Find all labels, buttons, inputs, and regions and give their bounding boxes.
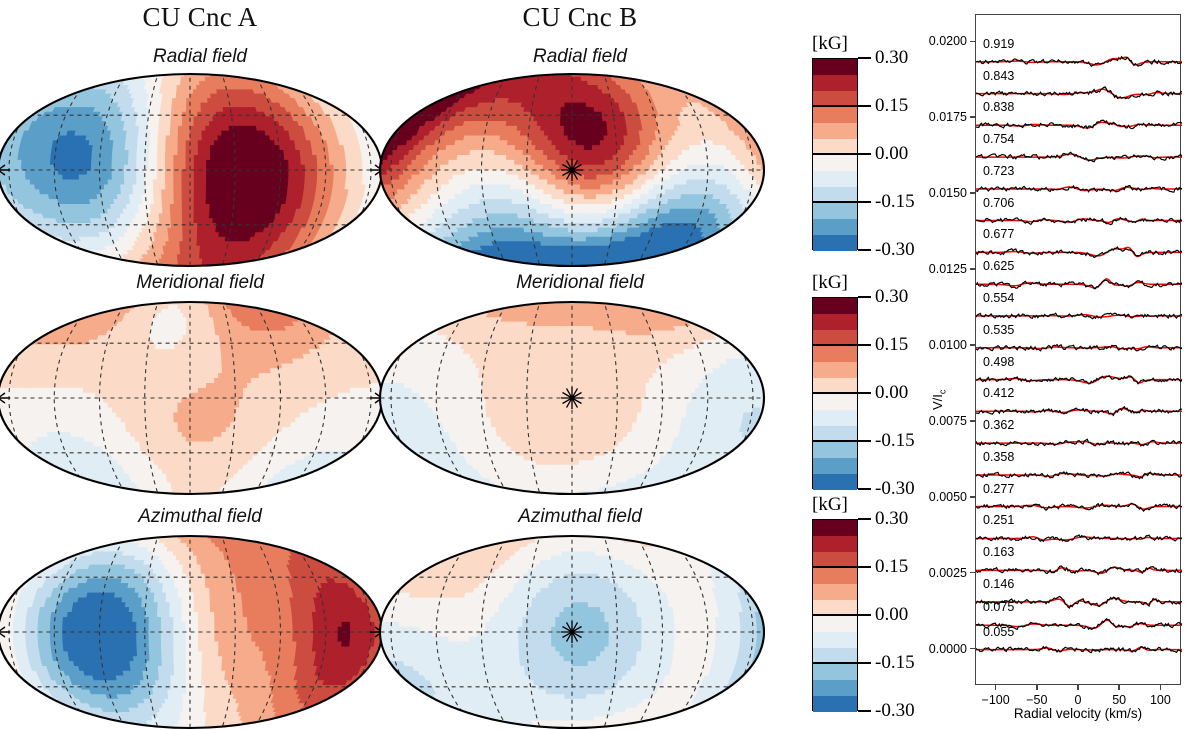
map-title-b-meridional: Meridional field [410, 272, 750, 294]
colorbar-band [813, 235, 857, 251]
colorbar-band [813, 536, 857, 552]
profile-phase-label: 0.754 [983, 132, 1014, 146]
y-tick-mark [970, 116, 975, 118]
colorbar-band [813, 171, 857, 187]
colorbar-tick [858, 105, 871, 107]
x-tick-mark [1077, 685, 1079, 690]
colorbar-tick [858, 392, 871, 394]
colorbar-band [813, 362, 857, 378]
colorbar-tick [858, 57, 871, 59]
profile-phase-label: 0.251 [983, 513, 1014, 527]
map-a-meridional-field [6, 300, 374, 496]
colorbar-level-rule [812, 344, 858, 346]
colorbar-tick-label: -0.15 [875, 652, 915, 674]
profile-phase-label: 0.919 [983, 37, 1014, 51]
colorbar-tick-label: -0.30 [875, 478, 915, 500]
colorbar-level-rule [812, 566, 858, 568]
colorbar-band [813, 442, 857, 458]
colorbar-tick [858, 566, 871, 568]
x-tick-mark [1118, 685, 1120, 690]
profile-phase-label: 0.358 [983, 450, 1014, 464]
y-tick-mark [970, 268, 975, 270]
colorbar-tick [858, 614, 871, 616]
colorbar-band [813, 75, 857, 91]
colorbar-tick [858, 710, 871, 712]
x-tick-label: −50 [1026, 693, 1047, 707]
colorbar-band [813, 474, 857, 490]
profile-phase-label: 0.554 [983, 291, 1014, 305]
profile-phase-label: 0.723 [983, 164, 1014, 178]
mollweide-projection [388, 300, 756, 496]
colorbar-band [813, 520, 857, 536]
x-tick-label: 100 [1150, 693, 1171, 707]
profile-phase-label: 0.362 [983, 418, 1014, 432]
map-b-meridional-field [388, 300, 756, 496]
colorbar-level-rule [812, 153, 858, 155]
colorbar-tick-label: 0.30 [875, 47, 908, 69]
colorbar-band [813, 59, 857, 75]
colorbar-tick [858, 296, 871, 298]
y-tick-label: 0.0200 [911, 34, 967, 48]
mollweide-projection [6, 300, 374, 496]
profile-phase-label: 0.163 [983, 545, 1014, 559]
colorbar-tick-label: -0.30 [875, 239, 915, 261]
x-tick-mark [995, 685, 997, 690]
observed-profile-line [976, 152, 1182, 161]
colorbar-level-rule [812, 392, 858, 394]
mollweide-projection [388, 534, 756, 730]
colorbar-band [813, 664, 857, 680]
spectra-x-axis-title: Radial velocity (km/s) [1014, 706, 1142, 721]
y-tick-label: 0.0125 [911, 262, 967, 276]
colorbar-tick-label: -0.30 [875, 700, 915, 722]
colorbar-tick [858, 201, 871, 203]
column-title-star-a: CU Cnc A [30, 2, 370, 33]
colorbar-level-rule [812, 105, 858, 107]
observed-profile-line [976, 647, 1182, 653]
colorbar-band [813, 314, 857, 330]
colorbar-level-rule [812, 201, 858, 203]
y-tick-mark [970, 344, 975, 346]
x-tick-label: 0 [1075, 693, 1082, 707]
colorbar-level-rule [812, 614, 858, 616]
colorbar-band [813, 203, 857, 219]
colorbar-unit-label: [kG] [812, 33, 848, 55]
profile-phase-label: 0.055 [983, 625, 1014, 639]
mollweide-projection [6, 72, 374, 268]
colorbar-tick [858, 488, 871, 490]
observed-profile-line [976, 313, 1182, 319]
colorbar-band [813, 616, 857, 632]
profile-phase-label: 0.706 [983, 196, 1014, 210]
colorbar-band [813, 219, 857, 235]
x-tick-label: 50 [1112, 693, 1126, 707]
y-tick-mark [970, 648, 975, 650]
colorbar-tick [858, 153, 871, 155]
x-tick-label: −100 [982, 693, 1010, 707]
colorbar-band [813, 155, 857, 171]
colorbar-band [813, 568, 857, 584]
colorbar-tick-label: 0.15 [875, 556, 908, 578]
colorbar-unit-label: [kG] [812, 494, 848, 516]
mollweide-projection [6, 534, 374, 730]
map-title-a-azimuthal: Azimuthal field [30, 506, 370, 528]
y-tick-label: 0.0100 [911, 338, 967, 352]
y-tick-mark [970, 41, 975, 43]
profile-phase-label: 0.146 [983, 577, 1014, 591]
profile-phase-label: 0.625 [983, 259, 1014, 273]
map-a-azimuthal-field [6, 534, 374, 730]
colorbar-band [813, 107, 857, 123]
colorbar-tick [858, 518, 871, 520]
model-profile-line [976, 89, 1182, 98]
colorbar-tick-label: 0.15 [875, 95, 908, 117]
colorbar-tick [858, 440, 871, 442]
colorbar-band [813, 394, 857, 410]
colorbar-band [813, 696, 857, 712]
colorbar-tick [858, 344, 871, 346]
observed-profile-line [976, 120, 1182, 128]
spectra-y-axis-title: V/Ic [930, 390, 948, 410]
colorbar-band [813, 632, 857, 648]
colorbar-tick [858, 249, 871, 251]
profile-phase-label: 0.838 [983, 100, 1014, 114]
x-tick-mark [1160, 685, 1162, 690]
y-tick-mark [970, 192, 975, 194]
observed-profile-line [976, 566, 1182, 575]
y-tick-label: 0.0150 [911, 186, 967, 200]
profile-phase-label: 0.075 [983, 600, 1014, 614]
map-b-radial-field [388, 72, 756, 268]
profile-phase-label: 0.412 [983, 386, 1014, 400]
y-tick-label: 0.0000 [911, 642, 967, 656]
colorbar-level-rule [812, 440, 858, 442]
colorbar-tick-label: 0.00 [875, 382, 908, 404]
colorbar-tick-label: 0.00 [875, 604, 908, 626]
colorbar-tick-label: 0.00 [875, 143, 908, 165]
colorbar-unit-label: [kG] [812, 272, 848, 294]
colorbar-tick-label: 0.15 [875, 334, 908, 356]
colorbar-band [813, 584, 857, 600]
colorbar-band [813, 123, 857, 139]
observed-profile-line [976, 87, 1182, 99]
colorbar-band [813, 680, 857, 696]
y-tick-label: 0.0025 [911, 566, 967, 580]
colorbar-tick-label: 0.30 [875, 286, 908, 308]
map-title-b-radial: Radial field [410, 46, 750, 68]
y-tick-mark [970, 572, 975, 574]
mollweide-projection [388, 72, 756, 268]
y-tick-label: 0.0050 [911, 490, 967, 504]
map-title-a-meridional: Meridional field [30, 272, 370, 294]
colorbar-tick [858, 662, 871, 664]
profile-phase-label: 0.498 [983, 355, 1014, 369]
colorbar-band [813, 410, 857, 426]
profile-phase-label: 0.535 [983, 323, 1014, 337]
colorbar-band [813, 458, 857, 474]
y-tick-mark [970, 496, 975, 498]
magnetic-field-maps-figure: CU Cnc A CU Cnc B Radial field Radial fi… [0, 0, 1200, 727]
column-title-star-b: CU Cnc B [410, 2, 750, 33]
map-a-radial-field [6, 72, 374, 268]
colorbar-tick-label: -0.15 [875, 191, 915, 213]
map-title-b-azimuthal: Azimuthal field [410, 506, 750, 528]
y-tick-label: 0.0175 [911, 110, 967, 124]
profile-phase-label: 0.677 [983, 227, 1014, 241]
colorbar-band [813, 346, 857, 362]
colorbar-tick-label: 0.30 [875, 508, 908, 530]
y-tick-mark [970, 420, 975, 422]
profile-phase-label: 0.843 [983, 69, 1014, 83]
map-b-azimuthal-field [388, 534, 756, 730]
profile-phase-label: 0.277 [983, 482, 1014, 496]
y-tick-label: 0.0075 [911, 414, 967, 428]
x-tick-mark [1036, 685, 1038, 690]
colorbar-band [813, 298, 857, 314]
colorbar-tick-label: -0.15 [875, 430, 915, 452]
colorbar-level-rule [812, 662, 858, 664]
map-title-a-radial: Radial field [30, 46, 370, 68]
